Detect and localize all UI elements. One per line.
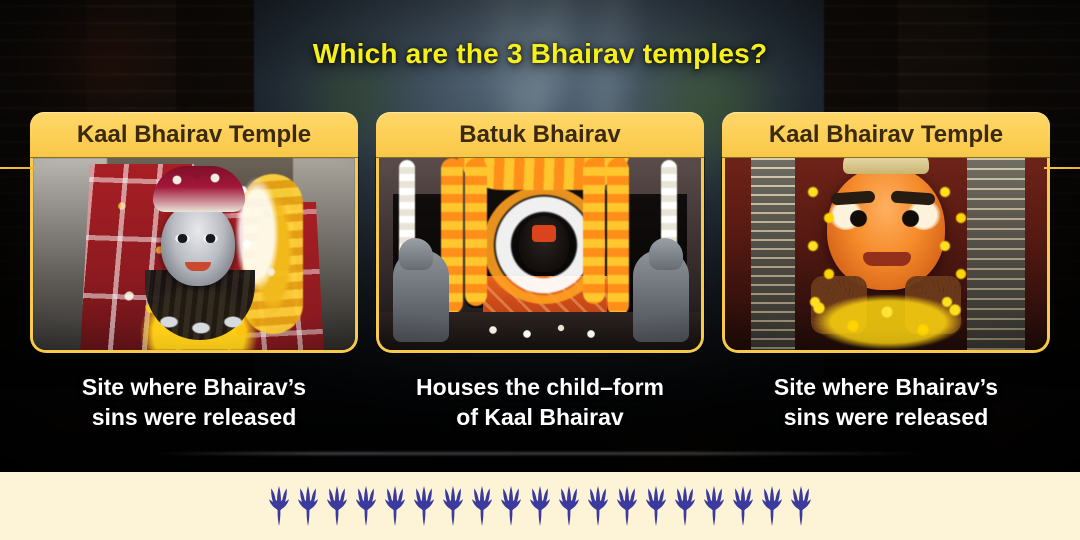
background-ledge-line xyxy=(150,452,930,455)
card-header-label: Batuk Bhairav xyxy=(376,112,704,158)
trishul-icon xyxy=(643,486,669,526)
trishul-icon xyxy=(556,486,582,526)
trishul-icon xyxy=(324,486,350,526)
trishul-icon xyxy=(788,486,814,526)
gold-divider-rule-right xyxy=(1044,167,1080,169)
temple-card[interactable]: Batuk Bhairav xyxy=(376,112,704,353)
page-title: Which are the 3 Bhairav temples? xyxy=(0,38,1080,70)
batuk-bhairav-shrine-dog-statues-photo xyxy=(376,158,704,353)
caption-line: sins were released xyxy=(722,402,1050,432)
slide-root: Which are the 3 Bhairav temples? Kaal Bh… xyxy=(0,0,1080,540)
card-header-label: Kaal Bhairav Temple xyxy=(722,112,1050,158)
caption-row: Site where Bhairav’s sins were released … xyxy=(0,372,1080,433)
gold-divider-rule-left xyxy=(0,167,36,169)
trishul-icon xyxy=(701,486,727,526)
trishul-icon xyxy=(440,486,466,526)
trishul-icon xyxy=(585,486,611,526)
trishul-icon xyxy=(614,486,640,526)
trishul-icon xyxy=(382,486,408,526)
trishul-icon xyxy=(469,486,495,526)
caption-line: Site where Bhairav’s xyxy=(722,372,1050,402)
trishul-icon xyxy=(353,486,379,526)
trishul-icon xyxy=(527,486,553,526)
card-caption: Houses the child–form of Kaal Bhairav xyxy=(376,372,704,433)
trishul-icon xyxy=(266,486,292,526)
card-caption: Site where Bhairav’s sins were released xyxy=(722,372,1050,433)
temple-card[interactable]: Kaal Bhairav Temple xyxy=(30,112,358,353)
caption-line: of Kaal Bhairav xyxy=(376,402,704,432)
card-header-label: Kaal Bhairav Temple xyxy=(30,112,358,158)
trishul-icon xyxy=(411,486,437,526)
trishul-icon xyxy=(672,486,698,526)
kaal-bhairav-temple-silver-idol-photo xyxy=(30,158,358,353)
temple-card-row: Kaal Bhairav Temple xyxy=(0,112,1080,353)
trident-footer-strip xyxy=(0,472,1080,540)
caption-line: Houses the child–form xyxy=(376,372,704,402)
kaal-bhairav-orange-face-idol-photo xyxy=(722,158,1050,353)
trishul-icon xyxy=(730,486,756,526)
card-caption: Site where Bhairav’s sins were released xyxy=(30,372,358,433)
trishul-icon xyxy=(759,486,785,526)
caption-line: sins were released xyxy=(30,402,358,432)
caption-line: Site where Bhairav’s xyxy=(30,372,358,402)
temple-card[interactable]: Kaal Bhairav Temple xyxy=(722,112,1050,353)
trishul-icon xyxy=(295,486,321,526)
trishul-icon xyxy=(498,486,524,526)
